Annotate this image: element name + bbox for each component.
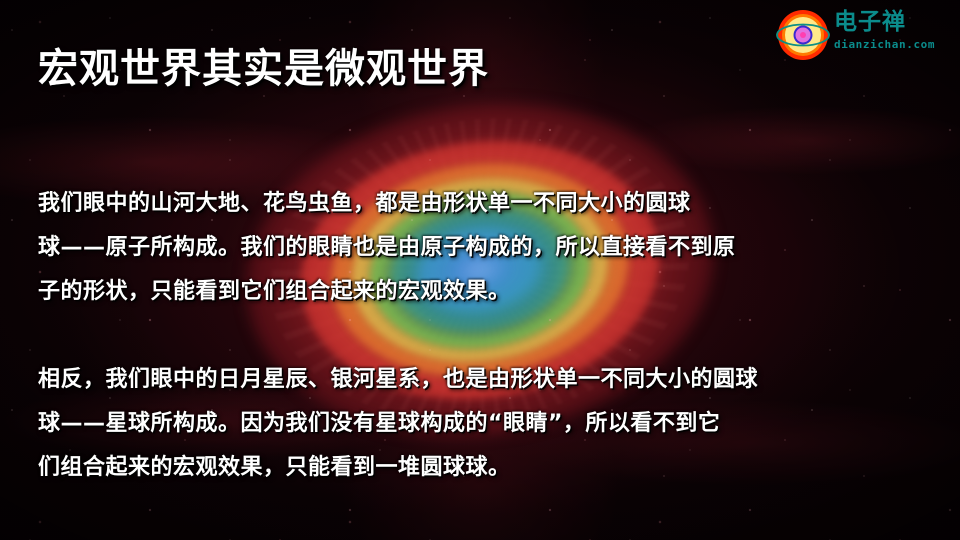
paragraph-2-line-2: 球——星球所构成。因为我们没有星球构成的“眼睛”，所以看不到它 [38, 402, 928, 446]
paragraph-1: 我们眼中的山河大地、花鸟虫鱼，都是由形状单一不同大小的圆球 球——原子所构成。我… [38, 182, 928, 314]
brand-logo[interactable]: 电子禅 dianzichan.com [772, 4, 952, 66]
body-text: 我们眼中的山河大地、花鸟虫鱼，都是由形状单一不同大小的圆球 球——原子所构成。我… [38, 182, 928, 490]
paragraph-1-line-1: 我们眼中的山河大地、花鸟虫鱼，都是由形状单一不同大小的圆球 [38, 182, 928, 226]
logo-website-url: dianzichan.com [834, 38, 946, 52]
logo-brand-name: 电子禅 [834, 9, 946, 36]
slide-canvas: 宏观世界其实是微观世界 我们眼中的山河大地、花鸟虫鱼，都是由形状单一不同大小的圆… [0, 0, 960, 540]
paragraph-2: 相反，我们眼中的日月星辰、银河星系，也是由形状单一不同大小的圆球 球——星球所构… [38, 358, 928, 490]
paragraph-1-line-2: 球——原子所构成。我们的眼睛也是由原子构成的，所以直接看不到原 [38, 226, 928, 270]
page-title: 宏观世界其实是微观世界 [38, 36, 489, 94]
atom-icon [776, 8, 830, 62]
slide-content: 宏观世界其实是微观世界 我们眼中的山河大地、花鸟虫鱼，都是由形状单一不同大小的圆… [0, 0, 960, 540]
paragraph-1-line-3: 子的形状，只能看到它们组合起来的宏观效果。 [38, 270, 928, 314]
logo-text-group: 电子禅 dianzichan.com [834, 9, 946, 52]
paragraph-2-line-1: 相反，我们眼中的日月星辰、银河星系，也是由形状单一不同大小的圆球 [38, 358, 928, 402]
paragraph-2-line-3: 们组合起来的宏观效果，只能看到一堆圆球球。 [38, 446, 928, 490]
